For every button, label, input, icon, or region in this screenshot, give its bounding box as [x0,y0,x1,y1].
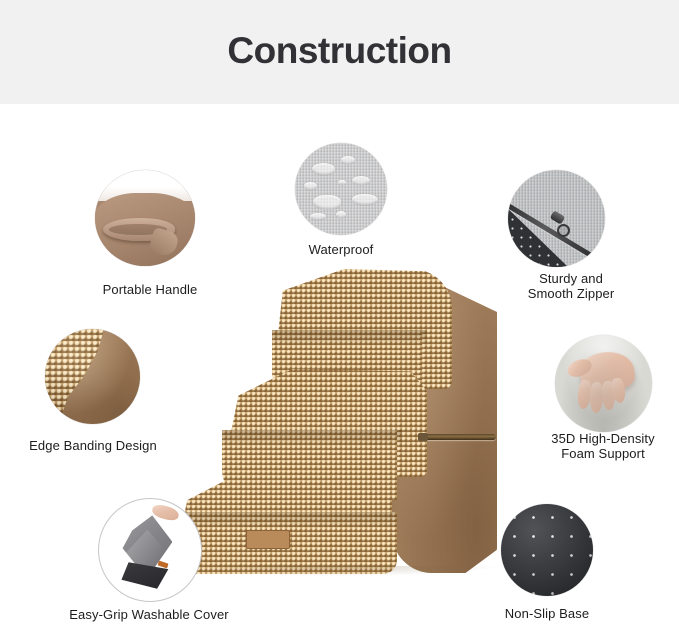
feature-label-waterproof: Waterproof [251,243,431,258]
feature-label-non-slip-base: Non-Slip Base [457,607,637,622]
product-front-face [172,512,397,574]
product-ground-shadow [176,566,496,576]
dotted-base-icon [501,504,593,596]
zipper-icon [508,170,605,267]
feature-label-easy-grip-washable-cover: Easy-Grip Washable Cover [54,608,244,623]
product-shadow-upper [272,330,427,346]
product-shadow-middle [222,430,402,446]
product-step-top-face [272,330,422,400]
edge-banding-icon [45,329,140,424]
product-brand-patch [246,530,290,549]
feature-label-edge-banding-design: Edge Banding Design [3,439,183,454]
page-title: Construction [0,30,679,72]
product-zipper-pull [418,433,428,441]
product-step-bottom [172,470,392,570]
product-step-middle-face [222,430,397,500]
hand-pressing-foam-icon [555,335,652,432]
product-step-top [272,269,452,389]
water-droplets-icon [295,143,387,235]
handle-strap-icon [95,170,195,266]
header-band: Construction [0,0,679,104]
feature-label-sturdy-smooth-zipper: Sturdy and Smooth Zipper [481,272,661,301]
removable-cover-icon [98,498,202,602]
product-shadow-bottom [172,512,397,528]
feature-label-portable-handle: Portable Handle [60,283,240,298]
product-side-panel [392,283,497,573]
product-step-middle [222,367,427,477]
construction-infographic: Construction [0,0,679,627]
product-zipper [424,434,496,440]
feature-label-foam-support: 35D High-Density Foam Support [513,432,679,461]
